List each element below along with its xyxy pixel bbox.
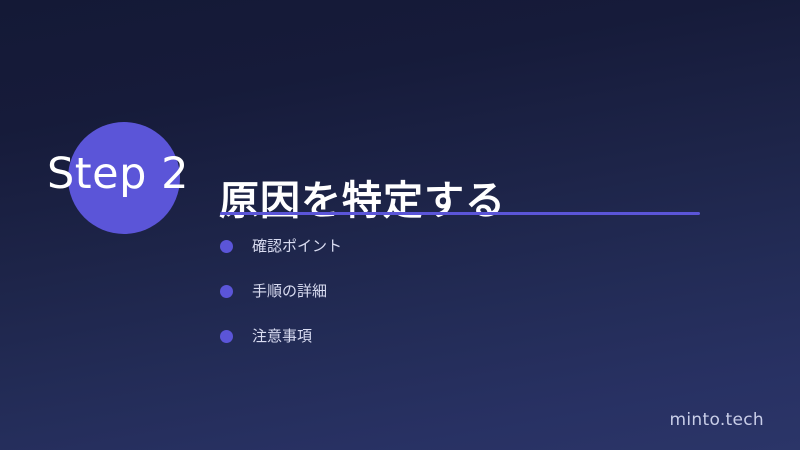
list-item: 手順の詳細 — [220, 283, 700, 328]
list-item: 注意事項 — [220, 328, 700, 373]
footer-watermark: minto.tech — [670, 410, 764, 430]
page-title: 原因を特定する — [219, 175, 506, 227]
bullet-dot-icon — [220, 240, 233, 253]
bullet-dot-icon — [220, 330, 233, 343]
bullet-dot-icon — [220, 285, 233, 298]
bullet-list: 確認ポイント 手順の詳細 注意事項 — [220, 238, 700, 373]
list-item-label: 手順の詳細 — [252, 283, 327, 300]
list-item-label: 確認ポイント — [252, 238, 342, 255]
list-item: 確認ポイント — [220, 238, 700, 283]
list-item-label: 注意事項 — [252, 328, 312, 345]
slide-canvas: Step 2 原因を特定する 確認ポイント 手順の詳細 注意事項 minto.t… — [0, 0, 800, 450]
title-divider — [220, 212, 700, 215]
step-label: Step 2 — [47, 150, 217, 198]
